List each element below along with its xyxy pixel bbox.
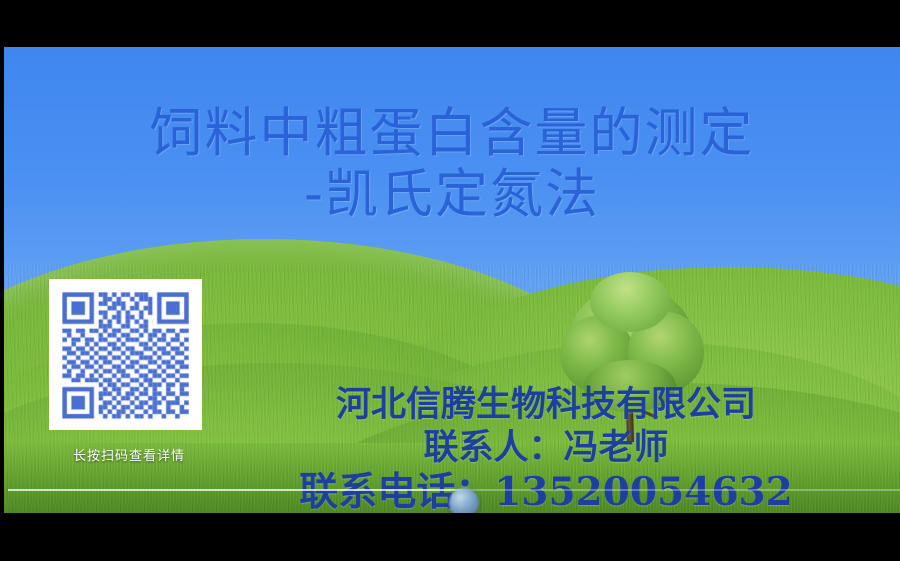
video-player-stage: 长按扫码查看详情 饲料中粗蛋白含量的测定 -凯氏定氮法 河北信腾生物科技有限公司… (0, 0, 900, 561)
qr-caption: 长按扫码查看详情 (49, 445, 209, 464)
tree-canopy (590, 272, 670, 332)
tree-canopy (584, 360, 676, 412)
qr-block[interactable]: 长按扫码查看详情 (49, 279, 209, 464)
video-progress-fill (8, 489, 463, 491)
tree-graphic (556, 272, 706, 457)
video-progress-handle[interactable] (449, 488, 479, 513)
letterbox-bottom (0, 513, 900, 561)
video-frame[interactable]: 长按扫码查看详情 饲料中粗蛋白含量的测定 -凯氏定氮法 河北信腾生物科技有限公司… (4, 47, 900, 513)
qr-code-image[interactable] (49, 279, 202, 430)
letterbox-top (0, 0, 900, 47)
